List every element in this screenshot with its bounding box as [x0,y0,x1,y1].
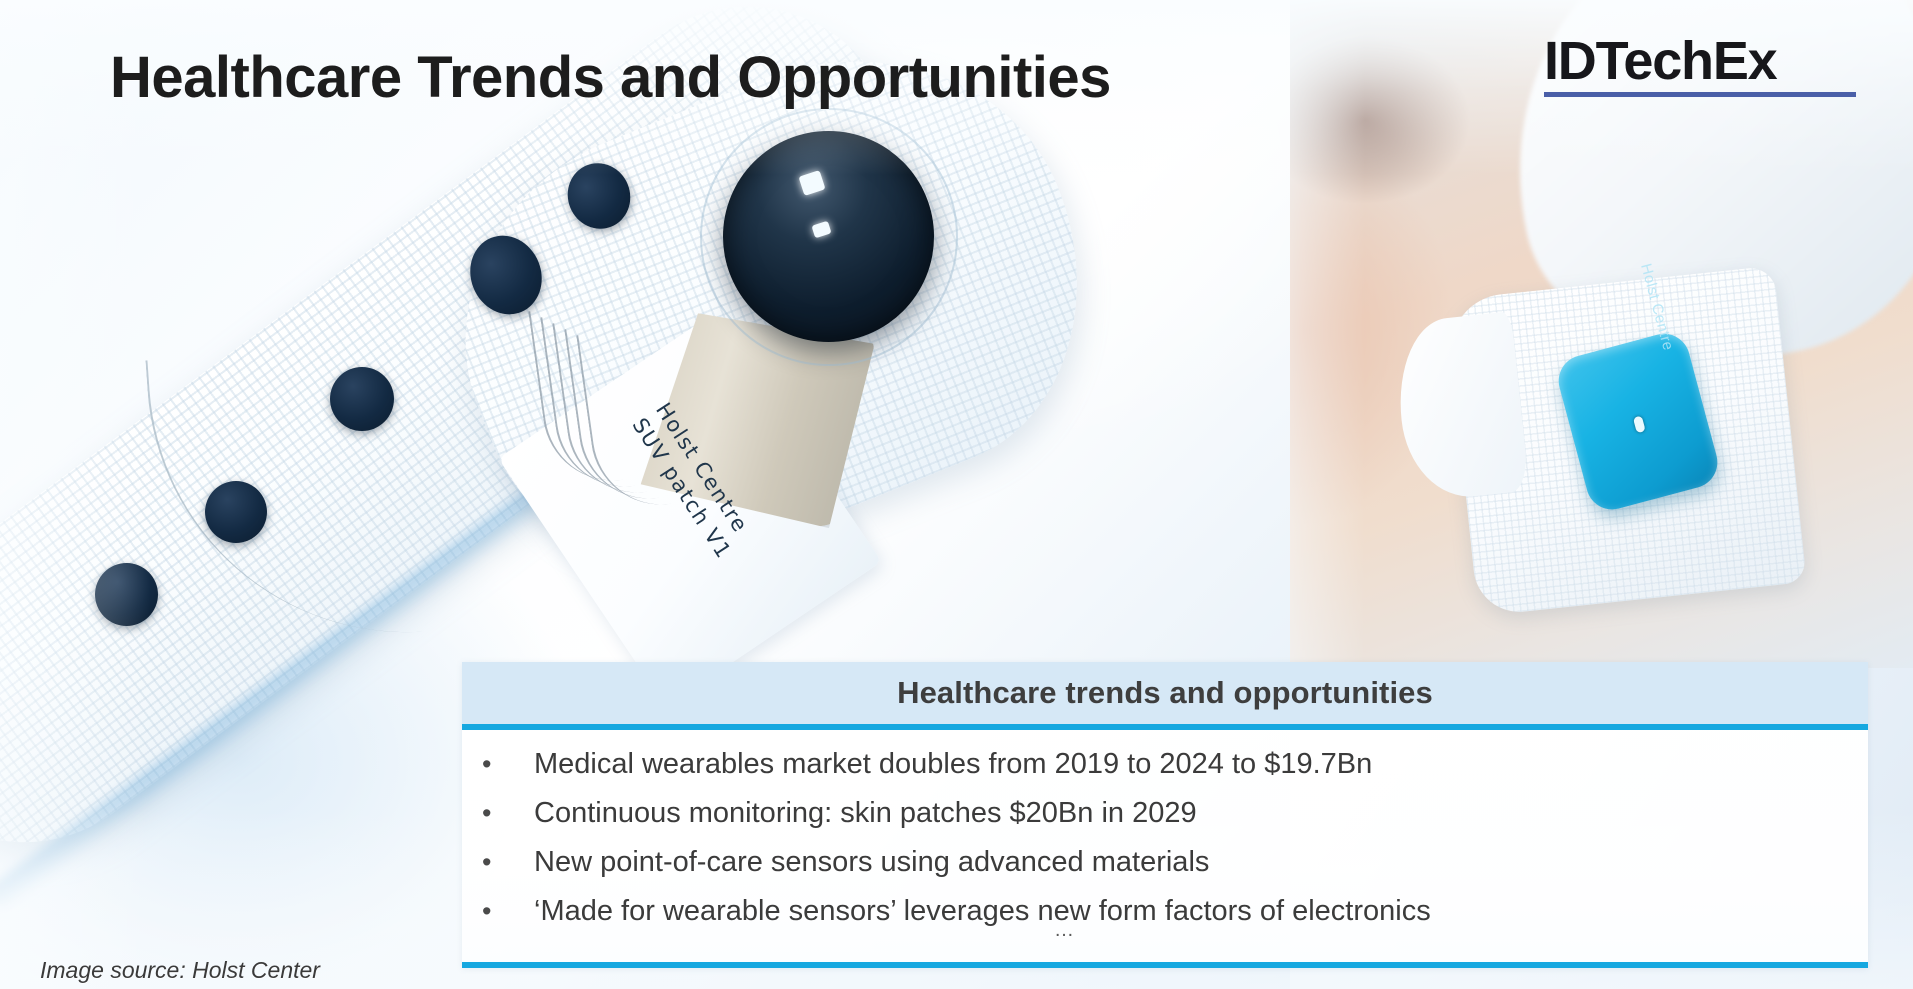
specular-highlight [798,170,825,196]
sensor-disc [723,131,934,342]
logo-wordmark: IDTechEx [1544,34,1864,88]
blue-sensor-module: Holst Centre [1553,328,1723,515]
slide: Holst Centre [0,0,1913,989]
idtechex-logo[interactable]: IDTechEx [1544,34,1864,97]
summary-panel: Healthcare trends and opportunities • Me… [462,662,1868,968]
list-item: • Continuous monitoring: skin patches $2… [462,791,1868,836]
sensor-led-icon [1633,416,1646,434]
accent-rule-bottom [462,962,1868,968]
sensor-brand-text: Holst Centre [1637,262,1677,353]
list-item-label: New point-of-care sensors using advanced… [534,840,1868,885]
list-item: • New point-of-care sensors using advanc… [462,840,1868,885]
bullet-marker-icon: • [482,791,534,836]
logo-underline-rule [1544,92,1856,97]
electrode [330,367,394,431]
bullet-marker-icon: • [482,742,534,787]
electrode [205,481,267,543]
list-item-label: Continuous monitoring: skin patches $20B… [534,791,1868,836]
bullet-list: • Medical wearables market doubles from … [462,738,1868,934]
list-item-label: Medical wearables market doubles from 20… [534,742,1868,787]
page-title: Healthcare Trends and Opportunities [110,44,1111,111]
list-item: • Medical wearables market doubles from … [462,742,1868,787]
continuation-ellipsis: … [462,919,1868,942]
shoulder-skin-patch-photo: Holst Centre [1245,0,1913,668]
adhesive-skin-patch: Holst Centre [1445,266,1806,617]
summary-panel-title: Healthcare trends and opportunities [897,675,1433,711]
bullet-marker-icon: • [482,840,534,885]
specular-highlight [811,221,831,239]
summary-panel-body: • Medical wearables market doubles from … [462,730,1868,968]
electrode [95,563,158,626]
image-source-caption: Image source: Holst Center [40,957,320,984]
summary-panel-header: Healthcare trends and opportunities [462,662,1868,724]
